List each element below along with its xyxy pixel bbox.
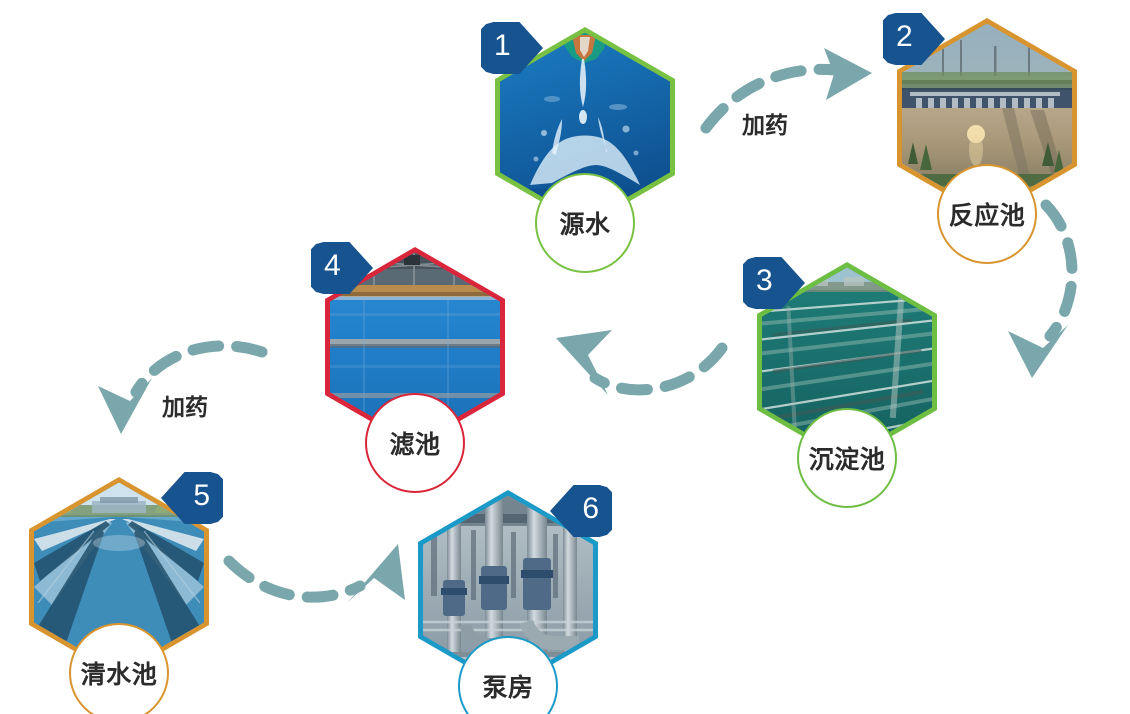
- step-number-1: 1: [494, 29, 511, 62]
- step-number-6: 6: [582, 492, 599, 525]
- node-label-circle-filter-tank[interactable]: 滤池: [365, 393, 465, 493]
- step-number-3: 3: [756, 264, 773, 297]
- arrow-clearwater-to-pumphouse: [229, 544, 405, 602]
- step-number-2: 2: [896, 20, 913, 53]
- arrow-source-to-reaction: [706, 48, 872, 128]
- node-label-circle-clear-water-tank[interactable]: 清水池: [69, 623, 169, 714]
- node-label-reaction-tank: 反应池: [949, 196, 1026, 232]
- node-label-pump-house: 泵房: [482, 668, 533, 704]
- node-label-circle-sedimentation-tank[interactable]: 沉淀池: [797, 408, 897, 508]
- node-label-circle-reaction-tank[interactable]: 反应池: [937, 164, 1037, 264]
- node-label-circle-source-water[interactable]: 源水: [535, 173, 635, 273]
- node-label-source-water: 源水: [559, 205, 610, 241]
- step-number-4: 4: [324, 249, 341, 282]
- edge-label-dosing-1: 加药: [742, 106, 788, 140]
- edge-label-dosing-2: 加药: [162, 388, 208, 422]
- node-label-filter-tank: 滤池: [389, 425, 440, 461]
- step-number-5: 5: [193, 479, 210, 512]
- node-label-clear-water-tank: 清水池: [81, 655, 158, 691]
- arrow-sedimentation-to-filter: [556, 330, 722, 395]
- process-flow-diagram: 加药 加药: [0, 0, 1130, 714]
- node-label-sedimentation-tank: 沉淀池: [809, 440, 886, 476]
